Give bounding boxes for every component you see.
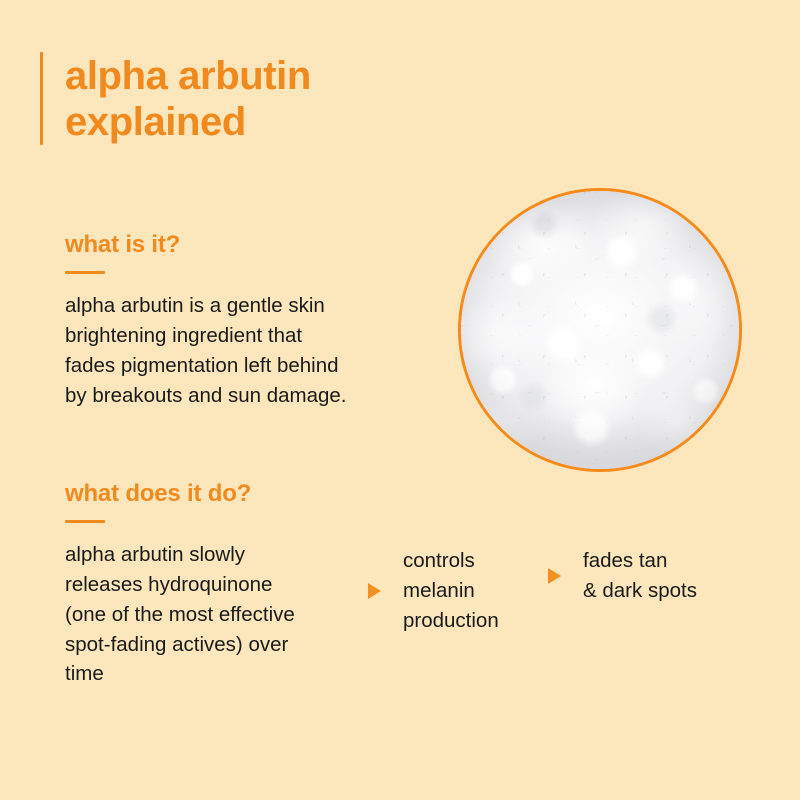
benefit-label: fades tan & dark spots [583, 546, 697, 606]
page-title: alpha arbutin explained [65, 52, 311, 145]
title-block: alpha arbutin explained [40, 52, 311, 145]
alpha-arbutin-powder-photo [458, 188, 742, 472]
section-divider-dash [65, 271, 105, 274]
section-heading-what-does-it-do: what does it do? [65, 481, 375, 507]
section-divider-dash [65, 520, 105, 523]
benefit-label: controls melanin production [403, 546, 499, 636]
title-accent-rule [40, 52, 43, 145]
section-what-does-it-do: what does it do? alpha arbutin slowly re… [65, 481, 375, 689]
benefit-item: controls melanin production [368, 546, 499, 636]
powder-vignette [461, 191, 739, 469]
triangle-right-icon [368, 583, 381, 599]
section-body-what-is-it: alpha arbutin is a gentle skin brighteni… [65, 291, 410, 410]
section-what-is-it: what is it? alpha arbutin is a gentle sk… [65, 232, 410, 410]
triangle-right-icon [548, 568, 561, 584]
benefit-item: fades tan & dark spots [548, 546, 697, 606]
section-heading-what-is-it: what is it? [65, 232, 410, 258]
infographic-canvas: alpha arbutin explained what is it? alph… [0, 0, 800, 800]
section-body-what-does-it-do: alpha arbutin slowly releases hydroquino… [65, 540, 375, 689]
